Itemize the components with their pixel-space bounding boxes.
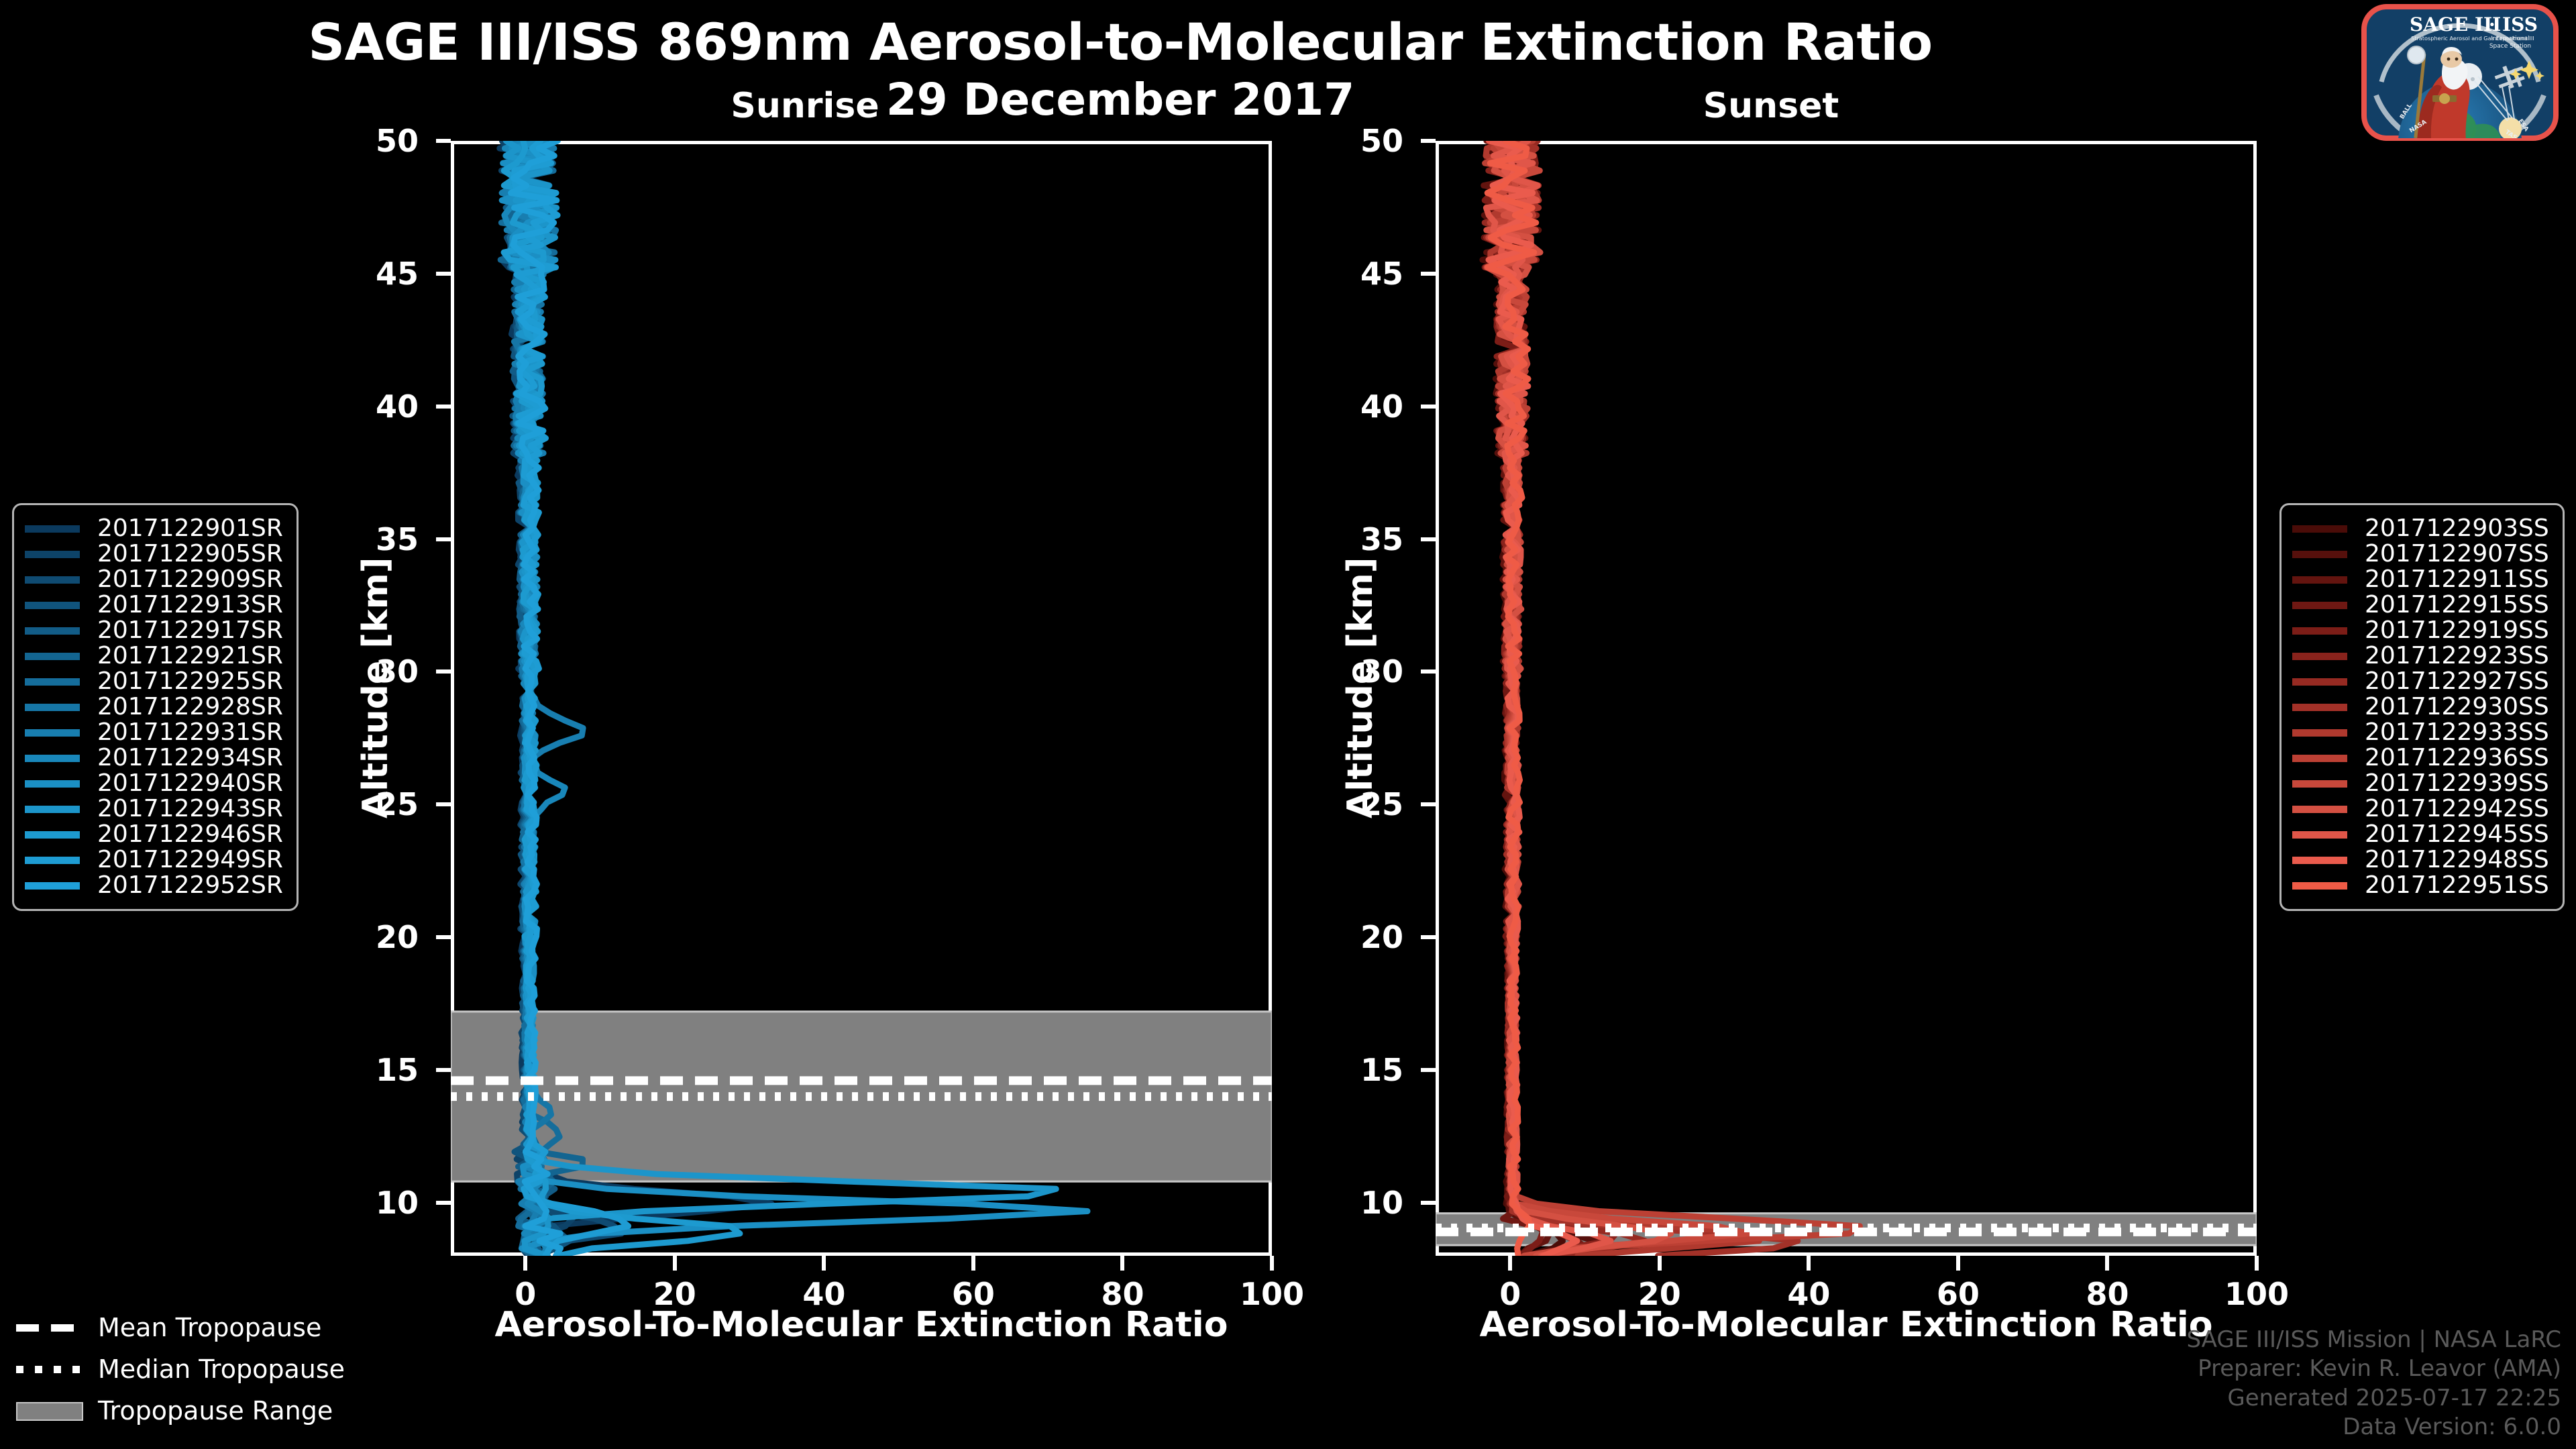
y-tick-mark <box>1421 1068 1436 1072</box>
y-tick-label: 15 <box>338 1052 419 1088</box>
legend-item-2017122911SS[interactable]: 2017122911SS <box>2292 567 2549 592</box>
sunset-plot-canvas <box>1436 141 2257 1256</box>
y-tick-mark <box>1421 537 1436 541</box>
x-tick-mark <box>1956 1256 1960 1271</box>
y-tick-mark <box>1421 405 1436 409</box>
legend-series-label: 2017122946SR <box>97 822 283 847</box>
x-tick-mark <box>971 1256 975 1271</box>
legend-color-swatch <box>2292 525 2347 533</box>
y-tick-mark <box>1421 1201 1436 1205</box>
legend-item-median-tropopause: Median Tropopause <box>16 1348 392 1390</box>
legend-color-swatch <box>2292 729 2347 737</box>
legend-color-swatch <box>25 729 80 737</box>
y-tick-mark <box>436 1201 451 1205</box>
y-tick-mark <box>436 272 451 276</box>
profile-line-2017122939SS <box>1487 141 1748 1256</box>
y-tick-label: 10 <box>338 1185 419 1221</box>
legend-item-2017122945SS[interactable]: 2017122945SS <box>2292 822 2549 847</box>
legend-color-swatch <box>25 627 80 635</box>
sunrise-plot-canvas <box>451 141 1272 1256</box>
legend-item-2017122934SR[interactable]: 2017122934SR <box>25 745 283 771</box>
y-tick-mark <box>1421 935 1436 939</box>
legend-color-swatch <box>25 551 80 558</box>
legend-item-2017122921SR[interactable]: 2017122921SR <box>25 643 283 669</box>
y-tick-mark <box>436 139 451 143</box>
y-tick-mark <box>1421 669 1436 674</box>
legend-color-swatch <box>25 602 80 609</box>
legend-item-2017122930SS[interactable]: 2017122930SS <box>2292 694 2549 720</box>
legend-item-2017122903SS[interactable]: 2017122903SS <box>2292 516 2549 541</box>
footer-line-generated: Generated 2025-07-17 22:25 <box>2186 1384 2561 1413</box>
legend-item-2017122909SR[interactable]: 2017122909SR <box>25 567 283 592</box>
sunset-series-legend[interactable]: 2017122903SS2017122907SS2017122911SS2017… <box>2279 503 2565 911</box>
legend-series-label: 2017122948SS <box>2365 848 2549 872</box>
x-tick-mark <box>523 1256 527 1271</box>
x-tick-mark <box>2105 1256 2109 1271</box>
x-tick-label: 40 <box>1755 1276 1862 1312</box>
footer-line-preparer: Preparer: Kevin R. Leavor (AMA) <box>2186 1354 2561 1384</box>
legend-item-2017122952SR[interactable]: 2017122952SR <box>25 873 283 898</box>
profile-line-2017122930SS <box>1498 141 1798 1256</box>
legend-series-label: 2017122942SS <box>2365 797 2549 821</box>
legend-color-swatch <box>2292 627 2347 635</box>
legend-item-2017122949SR[interactable]: 2017122949SR <box>25 847 283 873</box>
legend-series-label: 2017122921SR <box>97 644 283 668</box>
y-tick-mark <box>436 405 451 409</box>
y-tick-label: 35 <box>1323 521 1403 557</box>
legend-item-2017122919SS[interactable]: 2017122919SS <box>2292 618 2549 643</box>
filled-box-icon <box>16 1401 83 1421</box>
y-tick-mark <box>436 537 451 541</box>
legend-series-label: 2017122952SR <box>97 873 283 898</box>
legend-item-2017122923SS[interactable]: 2017122923SS <box>2292 643 2549 669</box>
x-tick-mark <box>1120 1256 1124 1271</box>
legend-color-swatch <box>25 857 80 864</box>
legend-series-label: 2017122930SS <box>2365 695 2549 719</box>
y-tick-label: 50 <box>338 123 419 159</box>
y-tick-mark <box>436 935 451 939</box>
x-tick-label: 60 <box>920 1276 1027 1312</box>
legend-color-swatch <box>2292 780 2347 788</box>
x-tick-mark <box>2255 1256 2259 1271</box>
legend-color-swatch <box>2292 831 2347 839</box>
legend-series-label: 2017122903SS <box>2365 517 2549 541</box>
legend-series-label: 2017122934SR <box>97 746 283 770</box>
legend-item-tropopause-range: Tropopause Range <box>16 1390 392 1432</box>
y-tick-label: 45 <box>338 256 419 292</box>
legend-item-2017122940SR[interactable]: 2017122940SR <box>25 771 283 796</box>
legend-item-2017122943SR[interactable]: 2017122943SR <box>25 796 283 822</box>
legend-color-swatch <box>2292 551 2347 558</box>
legend-color-swatch <box>2292 678 2347 686</box>
x-tick-label: 80 <box>1069 1276 1176 1312</box>
sunrise-plot-panel: Altitude [km] Aerosol-To-Molecular Extin… <box>0 0 1288 1449</box>
legend-item-2017122917SR[interactable]: 2017122917SR <box>25 618 283 643</box>
x-tick-label: 20 <box>1606 1276 1713 1312</box>
legend-item-2017122951SS[interactable]: 2017122951SS <box>2292 873 2549 898</box>
y-tick-mark <box>436 669 451 674</box>
legend-item-2017122936SS[interactable]: 2017122936SS <box>2292 745 2549 771</box>
legend-series-label: 2017122927SS <box>2365 669 2549 694</box>
y-tick-mark <box>1421 802 1436 806</box>
sunrise-series-legend[interactable]: 2017122901SR2017122905SR2017122909SR2017… <box>12 503 299 911</box>
legend-series-label: 2017122949SR <box>97 848 283 872</box>
legend-label: Median Tropopause <box>98 1354 345 1384</box>
legend-series-label: 2017122907SS <box>2365 542 2549 566</box>
legend-color-swatch <box>25 831 80 839</box>
legend-item-2017122946SR[interactable]: 2017122946SR <box>25 822 283 847</box>
y-tick-label: 25 <box>338 786 419 822</box>
legend-series-label: 2017122940SR <box>97 771 283 796</box>
legend-item-2017122942SS[interactable]: 2017122942SS <box>2292 796 2549 822</box>
legend-item-2017122928SR[interactable]: 2017122928SR <box>25 694 283 720</box>
x-tick-mark <box>822 1256 826 1271</box>
legend-color-swatch <box>2292 653 2347 660</box>
y-tick-label: 35 <box>338 521 419 557</box>
legend-series-label: 2017122905SR <box>97 542 283 566</box>
legend-color-swatch <box>2292 755 2347 762</box>
legend-item-mean-tropopause: Mean Tropopause <box>16 1307 392 1348</box>
x-tick-mark <box>1270 1256 1274 1271</box>
x-tick-label: 0 <box>1456 1276 1564 1312</box>
x-tick-label: 0 <box>472 1276 579 1312</box>
x-tick-mark <box>1807 1256 1811 1271</box>
x-tick-mark <box>673 1256 677 1271</box>
legend-color-swatch <box>2292 602 2347 609</box>
x-tick-label: 20 <box>621 1276 729 1312</box>
legend-color-swatch <box>2292 882 2347 890</box>
sunset-plot-panel: Altitude [km] Aerosol-To-Molecular Extin… <box>1288 0 2576 1449</box>
y-tick-label: 45 <box>1323 256 1403 292</box>
legend-label: Tropopause Range <box>98 1396 333 1426</box>
tropopause-legend: Mean Tropopause Median Tropopause Tropop… <box>16 1307 392 1432</box>
legend-color-swatch <box>25 525 80 533</box>
legend-series-label: 2017122901SR <box>97 517 283 541</box>
y-tick-label: 15 <box>1323 1052 1403 1088</box>
profile-line-2017122936SS <box>1485 141 1860 1256</box>
x-tick-label: 80 <box>2053 1276 2161 1312</box>
legend-series-label: 2017122936SS <box>2365 746 2549 770</box>
legend-series-label: 2017122945SS <box>2365 822 2549 847</box>
legend-color-swatch <box>25 653 80 660</box>
legend-color-swatch <box>2292 806 2347 813</box>
y-tick-label: 20 <box>338 919 419 955</box>
legend-series-label: 2017122931SR <box>97 720 283 745</box>
legend-series-label: 2017122943SR <box>97 797 283 821</box>
legend-item-2017122948SS[interactable]: 2017122948SS <box>2292 847 2549 873</box>
footer-line-version: Data Version: 6.0.0 <box>2186 1413 2561 1442</box>
legend-item-2017122915SS[interactable]: 2017122915SS <box>2292 592 2549 618</box>
legend-series-label: 2017122919SS <box>2365 619 2549 643</box>
legend-item-2017122925SR[interactable]: 2017122925SR <box>25 669 283 694</box>
dashed-line-icon <box>16 1318 83 1338</box>
legend-color-swatch <box>25 704 80 711</box>
y-tick-label: 20 <box>1323 919 1403 955</box>
legend-color-swatch <box>25 806 80 813</box>
legend-series-label: 2017122923SS <box>2365 644 2549 668</box>
y-tick-label: 25 <box>1323 786 1403 822</box>
legend-series-label: 2017122925SR <box>97 669 283 694</box>
legend-series-label: 2017122911SS <box>2365 568 2549 592</box>
x-tick-mark <box>1658 1256 1662 1271</box>
y-tick-label: 40 <box>338 388 419 425</box>
legend-series-label: 2017122915SS <box>2365 593 2549 617</box>
legend-color-swatch <box>2292 704 2347 711</box>
legend-series-label: 2017122909SR <box>97 568 283 592</box>
y-tick-mark <box>436 802 451 806</box>
dotted-line-icon <box>16 1359 83 1379</box>
legend-color-swatch <box>25 678 80 686</box>
legend-series-label: 2017122933SS <box>2365 720 2549 745</box>
x-tick-label: 40 <box>770 1276 877 1312</box>
legend-item-2017122939SS[interactable]: 2017122939SS <box>2292 771 2549 796</box>
legend-series-label: 2017122913SR <box>97 593 283 617</box>
y-tick-mark <box>1421 139 1436 143</box>
legend-item-2017122931SR[interactable]: 2017122931SR <box>25 720 283 745</box>
y-tick-label: 30 <box>338 653 419 690</box>
legend-item-2017122905SR[interactable]: 2017122905SR <box>25 541 283 567</box>
legend-series-label: 2017122917SR <box>97 619 283 643</box>
legend-label: Mean Tropopause <box>98 1313 321 1342</box>
y-tick-label: 10 <box>1323 1185 1403 1221</box>
legend-color-swatch <box>25 882 80 890</box>
profile-line-2017122948SS <box>1489 141 1577 1256</box>
legend-color-swatch <box>25 780 80 788</box>
footer-line-mission: SAGE III/ISS Mission | NASA LaRC <box>2186 1326 2561 1355</box>
profile-line-2017122933SS <box>1486 141 1763 1256</box>
legend-color-swatch <box>2292 857 2347 864</box>
y-tick-label: 30 <box>1323 653 1403 690</box>
legend-item-2017122927SS[interactable]: 2017122927SS <box>2292 669 2549 694</box>
legend-item-2017122901SR[interactable]: 2017122901SR <box>25 516 283 541</box>
y-tick-label: 50 <box>1323 123 1403 159</box>
legend-item-2017122933SS[interactable]: 2017122933SS <box>2292 720 2549 745</box>
legend-series-label: 2017122951SS <box>2365 873 2549 898</box>
footer-credits: SAGE III/ISS Mission | NASA LaRC Prepare… <box>2186 1326 2561 1442</box>
y-tick-mark <box>1421 272 1436 276</box>
legend-series-label: 2017122939SS <box>2365 771 2549 796</box>
x-tick-label: 100 <box>2203 1276 2310 1312</box>
legend-color-swatch <box>25 755 80 762</box>
legend-color-swatch <box>2292 576 2347 584</box>
legend-color-swatch <box>25 576 80 584</box>
legend-series-label: 2017122928SR <box>97 695 283 719</box>
x-tick-label: 60 <box>1904 1276 2012 1312</box>
y-tick-mark <box>436 1068 451 1072</box>
y-tick-label: 40 <box>1323 388 1403 425</box>
legend-item-2017122907SS[interactable]: 2017122907SS <box>2292 541 2549 567</box>
legend-item-2017122913SR[interactable]: 2017122913SR <box>25 592 283 618</box>
x-tick-mark <box>1508 1256 1512 1271</box>
